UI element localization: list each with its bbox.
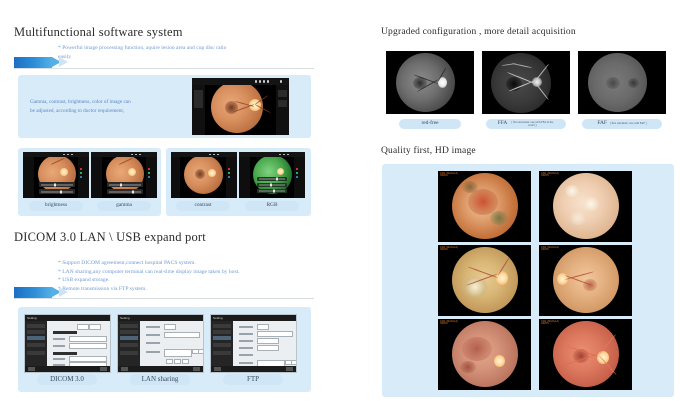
thumb-gamma[interactable] [91, 152, 157, 198]
thumb-left-rail[interactable] [23, 157, 34, 198]
toolbar-icon[interactable] [63, 154, 65, 156]
image-faf[interactable] [578, 51, 666, 114]
toolbar-icon[interactable] [139, 154, 141, 156]
image-annotation: CAN (MACULA) OD/OS [541, 321, 559, 327]
faf-overlay [578, 51, 666, 114]
optic-disc [494, 355, 505, 367]
sidebar-item-active[interactable] [120, 336, 138, 340]
text-field[interactable] [69, 343, 107, 349]
label-gamma: gamma [97, 201, 151, 211]
lesion-region [462, 181, 478, 193]
field-label [239, 340, 253, 342]
small-button[interactable] [174, 359, 181, 364]
text-field[interactable] [257, 331, 293, 337]
field-label [53, 358, 65, 360]
image-ffa[interactable] [482, 51, 570, 114]
left-column: Multifunctional software system * Powerf… [0, 0, 360, 401]
thumb-rgb[interactable] [239, 152, 305, 198]
image-annotation: CAN (MACULA) OD/OS [541, 247, 559, 253]
image-annotation: CAN (MACULA) OD/OS [440, 173, 458, 179]
label-ffa: FFA ( first automatic one with FFA in th… [486, 119, 566, 129]
toolbar-icon[interactable] [259, 80, 261, 82]
text-field[interactable] [164, 332, 200, 338]
sidebar-item-active[interactable] [213, 336, 231, 340]
ok-button[interactable] [193, 367, 200, 370]
hd-image-5[interactable]: CAN (MACULA) OD/OS [438, 319, 531, 390]
modality-note: ( first automatic one with FFA in the wo… [510, 121, 554, 127]
hd-image-6[interactable]: CAN (MACULA) OD/OS [539, 319, 632, 390]
rgb-slider-b[interactable] [257, 189, 287, 193]
drusen-region [583, 197, 599, 211]
thumb-left-rail[interactable] [239, 157, 250, 198]
group-header [53, 331, 77, 334]
ok-button[interactable] [286, 367, 293, 370]
group-header [53, 352, 77, 355]
gamma-slider-2[interactable] [107, 189, 143, 194]
field-label [239, 347, 253, 349]
rail-color-chip[interactable] [228, 172, 230, 174]
sidebar-item[interactable] [213, 351, 231, 355]
optic-disc [60, 168, 68, 176]
rail-color-chip[interactable] [148, 172, 150, 174]
tab-button[interactable] [89, 324, 101, 330]
bullet-line: * USB expand storage. [58, 276, 338, 285]
section-title-dicom: DICOM 3.0 LAN \ USB expand port [14, 230, 206, 245]
ok-button[interactable] [100, 367, 107, 370]
field-label [146, 326, 160, 328]
software-bullet-list: * Powerful image processing function, aq… [58, 44, 328, 61]
rail-thumb[interactable] [194, 90, 203, 108]
thumb-brightness[interactable] [23, 152, 89, 198]
exudate-region [462, 277, 488, 297]
small-button[interactable] [166, 359, 173, 364]
rail-color-chip[interactable] [80, 172, 82, 174]
toolbar-icon[interactable] [135, 154, 137, 156]
label-ftp: FTP [223, 374, 283, 385]
optic-disc [128, 168, 136, 176]
sidebar-item[interactable] [27, 330, 45, 334]
cancel-button[interactable] [214, 367, 221, 370]
toolbar-icon[interactable] [280, 80, 282, 82]
toolbar-icon[interactable] [287, 154, 289, 156]
dialog-title: Setting [213, 316, 223, 320]
ffa-overlay [482, 51, 570, 114]
gamma-slider[interactable] [107, 182, 143, 187]
dialog-dicom[interactable]: Setting [24, 314, 111, 373]
bullet-line: easily [58, 53, 328, 62]
bullet-line: * Remote transmission via FTP system. [58, 285, 338, 294]
slide-root: Multifunctional software system * Powerf… [0, 0, 680, 401]
rail-color-chip[interactable] [80, 168, 82, 170]
brightness-slider[interactable] [39, 182, 75, 187]
field-label [239, 362, 253, 364]
dialog-ftp[interactable]: Setting [210, 314, 297, 373]
divider-2 [14, 298, 314, 299]
hd-image-2[interactable]: CAN (MACULA) OD/OS [539, 171, 632, 242]
field-label [146, 342, 160, 344]
image-red-free[interactable] [386, 51, 474, 114]
divider-1 [14, 68, 314, 69]
thumb-contrast[interactable] [171, 152, 237, 198]
modality-name: FFA [498, 121, 508, 127]
sidebar-item-active[interactable] [27, 336, 45, 340]
macula-region [195, 169, 205, 179]
sidebar-item[interactable] [213, 343, 231, 347]
dialog-body [47, 321, 110, 366]
sidebar-item[interactable] [120, 343, 138, 347]
thumb-left-rail[interactable] [171, 157, 180, 198]
rail-color-chip[interactable] [148, 176, 150, 178]
tab-button[interactable] [77, 324, 89, 330]
lesion-region [490, 211, 508, 225]
cancel-button[interactable] [28, 367, 35, 370]
tab-button[interactable] [164, 324, 176, 330]
image-adjust-note: Gamma, contrast, brightness, color of im… [30, 98, 180, 116]
optic-disc [208, 169, 216, 177]
sidebar-item[interactable] [120, 324, 138, 328]
arrow-body [14, 57, 52, 68]
field-label [146, 351, 160, 353]
field-label [53, 345, 65, 347]
hd-image-1[interactable]: CAN (MACULA) OD/OS [438, 171, 531, 242]
dialog-sidebar[interactable] [25, 321, 47, 366]
drusen-region [569, 211, 587, 225]
image-annotation: CAN (MACULA) OD/OS [440, 247, 458, 253]
sidebar-item[interactable] [213, 324, 231, 328]
field-label [239, 333, 253, 335]
text-field[interactable] [257, 338, 279, 344]
modality-name: red-free [421, 121, 438, 127]
toolbar-icon[interactable] [279, 154, 281, 156]
dialog-title: Setting [120, 316, 130, 320]
dialog-title: Setting [27, 316, 37, 320]
browse-button[interactable] [291, 360, 297, 365]
rgb-slider-r[interactable] [257, 177, 287, 181]
section-title-quality: Quality first, HD image [381, 146, 476, 156]
sidebar-item[interactable] [27, 324, 45, 328]
section-title-software: Multifunctional software system [14, 25, 183, 40]
tab-button[interactable] [257, 324, 269, 330]
label-red-free: red-free [399, 119, 461, 129]
note-line: Gamma, contrast, brightness, color of im… [30, 98, 180, 107]
brightness-slider-2[interactable] [39, 189, 75, 194]
field-label [53, 338, 65, 340]
cancel-button[interactable] [121, 367, 128, 370]
rail-color-chip[interactable] [296, 168, 298, 170]
text-field[interactable] [164, 349, 192, 357]
dialog-body [233, 321, 296, 366]
image-annotation: CAN (MACULA) OD/OS [541, 173, 559, 179]
field-label [239, 354, 253, 356]
fundus-viewer-screenshot[interactable] [192, 78, 289, 135]
modality-note: ( first automatic one with FAF ) [610, 122, 647, 125]
toolbar-icon[interactable] [131, 154, 133, 156]
rail-color-chip[interactable] [228, 176, 230, 178]
bullet-line: * Powerful image processing function, aq… [58, 44, 328, 53]
rail-chip[interactable] [278, 90, 287, 97]
macula-region [225, 101, 238, 114]
hemorrhage-region [460, 361, 476, 373]
text-field[interactable] [69, 336, 107, 342]
dicom-bullet-list: * Support DICOM agreement,connect hospit… [58, 259, 338, 293]
bullet-line: * Support DICOM agreement,connect hospit… [58, 259, 338, 268]
label-rgb: RGB [245, 201, 299, 211]
toolbar-icon[interactable] [213, 154, 215, 156]
toolbar-icon[interactable] [283, 154, 285, 156]
arrow-marker-2 [14, 287, 70, 298]
rail-color-chip[interactable] [148, 168, 150, 170]
label-contrast: contrast [176, 201, 230, 211]
arrow-body [14, 287, 52, 298]
browse-button[interactable] [198, 349, 204, 354]
arrow-marker-1 [14, 57, 70, 68]
label-dicom: DICOM 3.0 [37, 374, 97, 385]
toolbar-icon[interactable] [67, 154, 69, 156]
dialog-footer [25, 366, 110, 372]
modality-name: FAF [597, 121, 607, 127]
optic-disc [277, 168, 284, 175]
toolbar-icon[interactable] [267, 80, 269, 82]
toolbar-icon[interactable] [217, 154, 219, 156]
hd-image-4[interactable]: CAN (MACULA) OD/OS [539, 245, 632, 316]
bullet-line: * LAN sharing,any computer terminal can … [58, 268, 338, 277]
rgb-slider-g[interactable] [257, 183, 287, 187]
dialog-sidebar[interactable] [118, 321, 140, 366]
arrow-tip-outline [59, 57, 68, 67]
sidebar-item[interactable] [27, 343, 45, 347]
sidebar-item[interactable] [213, 330, 231, 334]
dialog-footer [211, 366, 296, 372]
dialog-lan[interactable]: Setting [117, 314, 204, 373]
image-annotation: CAN (MACULA) OD/OS [440, 321, 458, 327]
label-lan-sharing: LAN sharing [130, 374, 190, 385]
rail-color-chip[interactable] [228, 168, 230, 170]
toolbar-icon[interactable] [71, 154, 73, 156]
hemorrhage-region [462, 337, 492, 361]
label-brightness: brightness [29, 201, 83, 211]
note-line: be adjusted, according to doctor require… [30, 107, 180, 116]
toolbar-icon[interactable] [263, 80, 265, 82]
rail-chip[interactable] [278, 100, 287, 107]
sidebar-item[interactable] [120, 330, 138, 334]
thumb-left-rail[interactable] [91, 157, 102, 198]
drusen-region [565, 185, 579, 197]
sidebar-item[interactable] [120, 351, 138, 355]
small-button[interactable] [182, 359, 189, 364]
rail-color-chip[interactable] [80, 176, 82, 178]
dialog-sidebar[interactable] [211, 321, 233, 366]
toolbar-icon[interactable] [255, 80, 257, 82]
text-field[interactable] [257, 345, 279, 351]
hd-image-3[interactable]: CAN (MACULA) OD/OS [438, 245, 531, 316]
dialog-footer [118, 366, 203, 372]
label-faf: FAF ( first automatic one with FAF ) [582, 119, 662, 129]
toolbar-icon[interactable] [209, 154, 211, 156]
arrow-tip-outline [59, 287, 68, 297]
dialog-body [140, 321, 203, 366]
rail-color-chip[interactable] [296, 176, 298, 178]
right-column: Upgraded configuration , more detail acq… [372, 0, 680, 401]
field-label [239, 326, 253, 328]
field-label [146, 334, 160, 336]
rail-color-chip[interactable] [296, 172, 298, 174]
section-title-upgraded: Upgraded configuration , more detail acq… [381, 27, 576, 37]
viewer-toolbar[interactable] [192, 78, 289, 85]
sidebar-item[interactable] [27, 351, 45, 355]
